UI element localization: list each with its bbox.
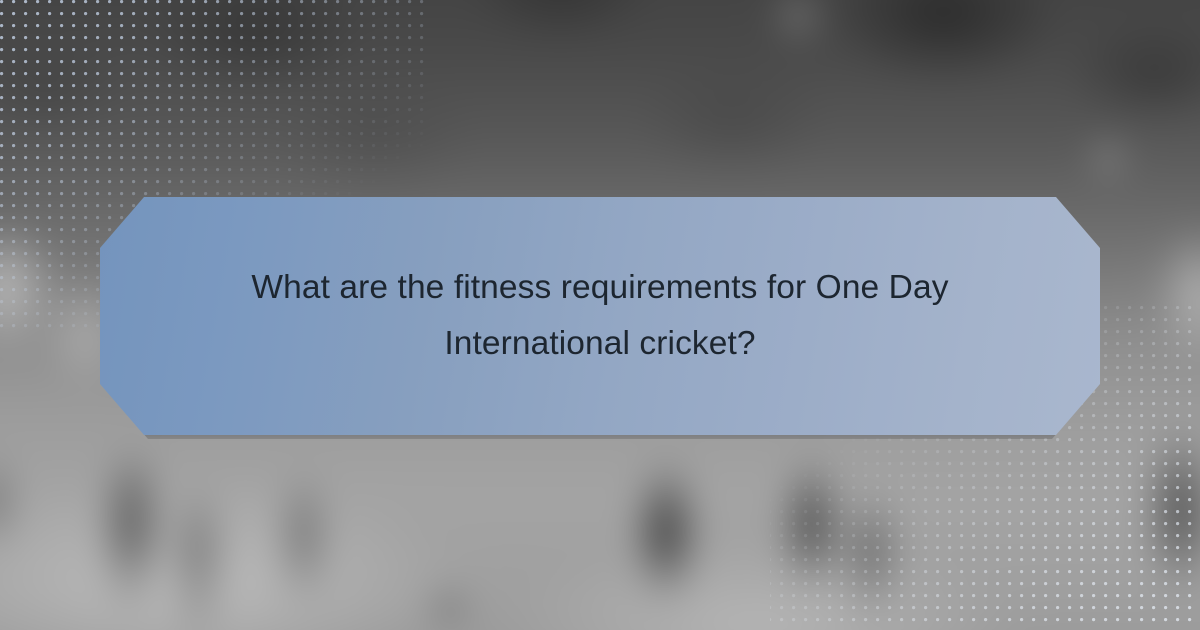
question-card-banner: What are the fitness requirements for On… (0, 0, 1200, 630)
question-card: What are the fitness requirements for On… (100, 197, 1100, 435)
question-text: What are the fitness requirements for On… (220, 260, 980, 372)
